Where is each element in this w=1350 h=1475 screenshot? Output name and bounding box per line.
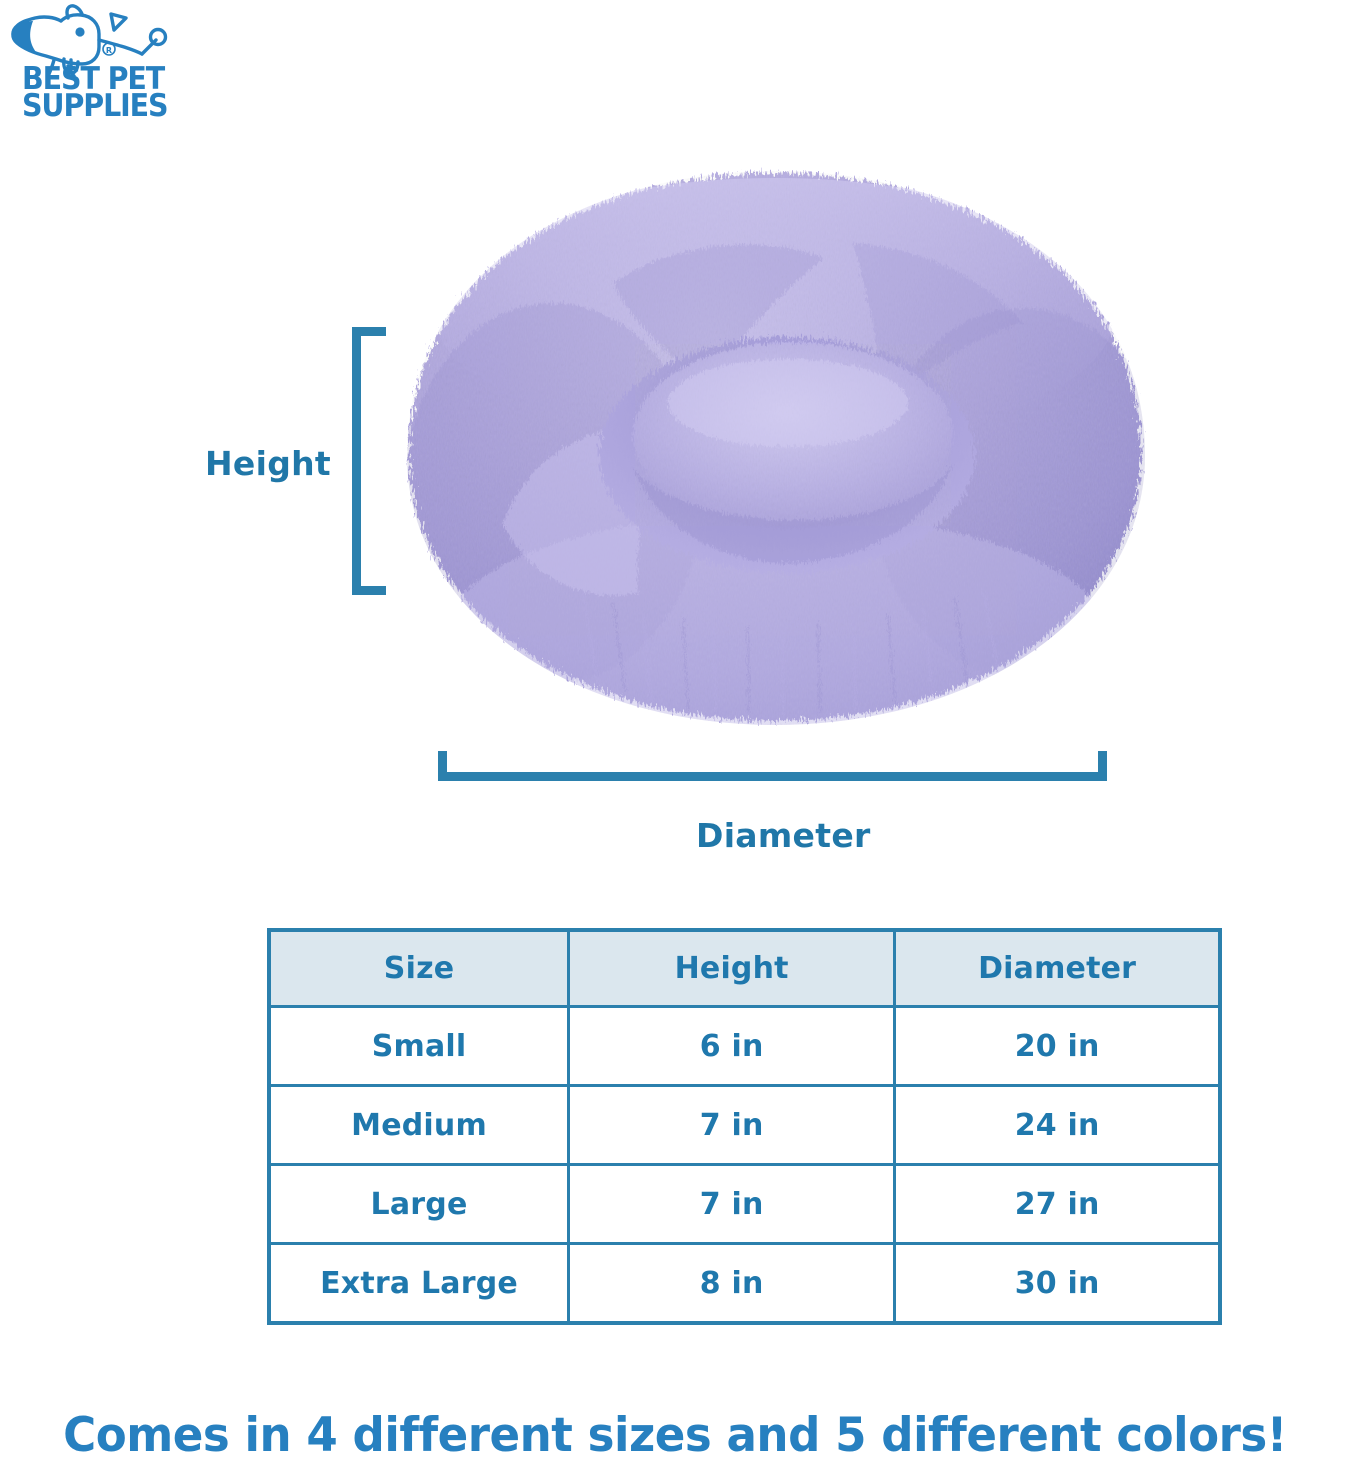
height-label: Height (205, 444, 331, 483)
brand-logo: R BEST PET SUPPLIES (8, 4, 173, 129)
cell-height: 7 in (569, 1165, 895, 1244)
diameter-label: Diameter (696, 816, 871, 855)
column-header-height: Height (569, 930, 895, 1007)
svg-text:R: R (106, 46, 112, 55)
cell-diameter: 30 in (895, 1244, 1220, 1324)
cell-height: 8 in (569, 1244, 895, 1324)
dog-eye-icon (75, 27, 84, 36)
height-bracket-tick-bottom (352, 586, 386, 595)
cell-height: 7 in (569, 1086, 895, 1165)
diameter-bracket-tick-right (1098, 751, 1107, 781)
cell-diameter: 27 in (895, 1165, 1220, 1244)
donut-pet-bed-image (383, 163, 1168, 743)
product-photo (383, 163, 1168, 743)
diameter-bracket (438, 751, 1107, 781)
cell-diameter: 24 in (895, 1086, 1220, 1165)
cell-size: Extra Large (269, 1244, 569, 1324)
brand-wordmark: BEST PET SUPPLIES (22, 66, 172, 119)
table-row: Small 6 in 20 in (269, 1007, 1220, 1086)
table-row: Extra Large 8 in 30 in (269, 1244, 1220, 1324)
cell-size: Medium (269, 1086, 569, 1165)
height-bracket-bar (352, 327, 361, 595)
size-chart: Size Height Diameter Small 6 in 20 in Me… (267, 928, 1222, 1325)
column-header-diameter: Diameter (895, 930, 1220, 1007)
table-header-row: Size Height Diameter (269, 930, 1220, 1007)
size-table: Size Height Diameter Small 6 in 20 in Me… (267, 928, 1222, 1325)
height-bracket (352, 327, 386, 595)
column-header-size: Size (269, 930, 569, 1007)
diameter-bracket-bar (438, 772, 1107, 781)
cell-size: Large (269, 1165, 569, 1244)
table-row: Large 7 in 27 in (269, 1165, 1220, 1244)
cell-diameter: 20 in (895, 1007, 1220, 1086)
brand-wordmark-line2: SUPPLIES (22, 93, 160, 120)
registered-trademark-icon: R (103, 43, 115, 55)
table-row: Medium 7 in 24 in (269, 1086, 1220, 1165)
cell-size: Small (269, 1007, 569, 1086)
tagline: Comes in 4 different sizes and 5 differe… (27, 1408, 1323, 1463)
cell-height: 6 in (569, 1007, 895, 1086)
